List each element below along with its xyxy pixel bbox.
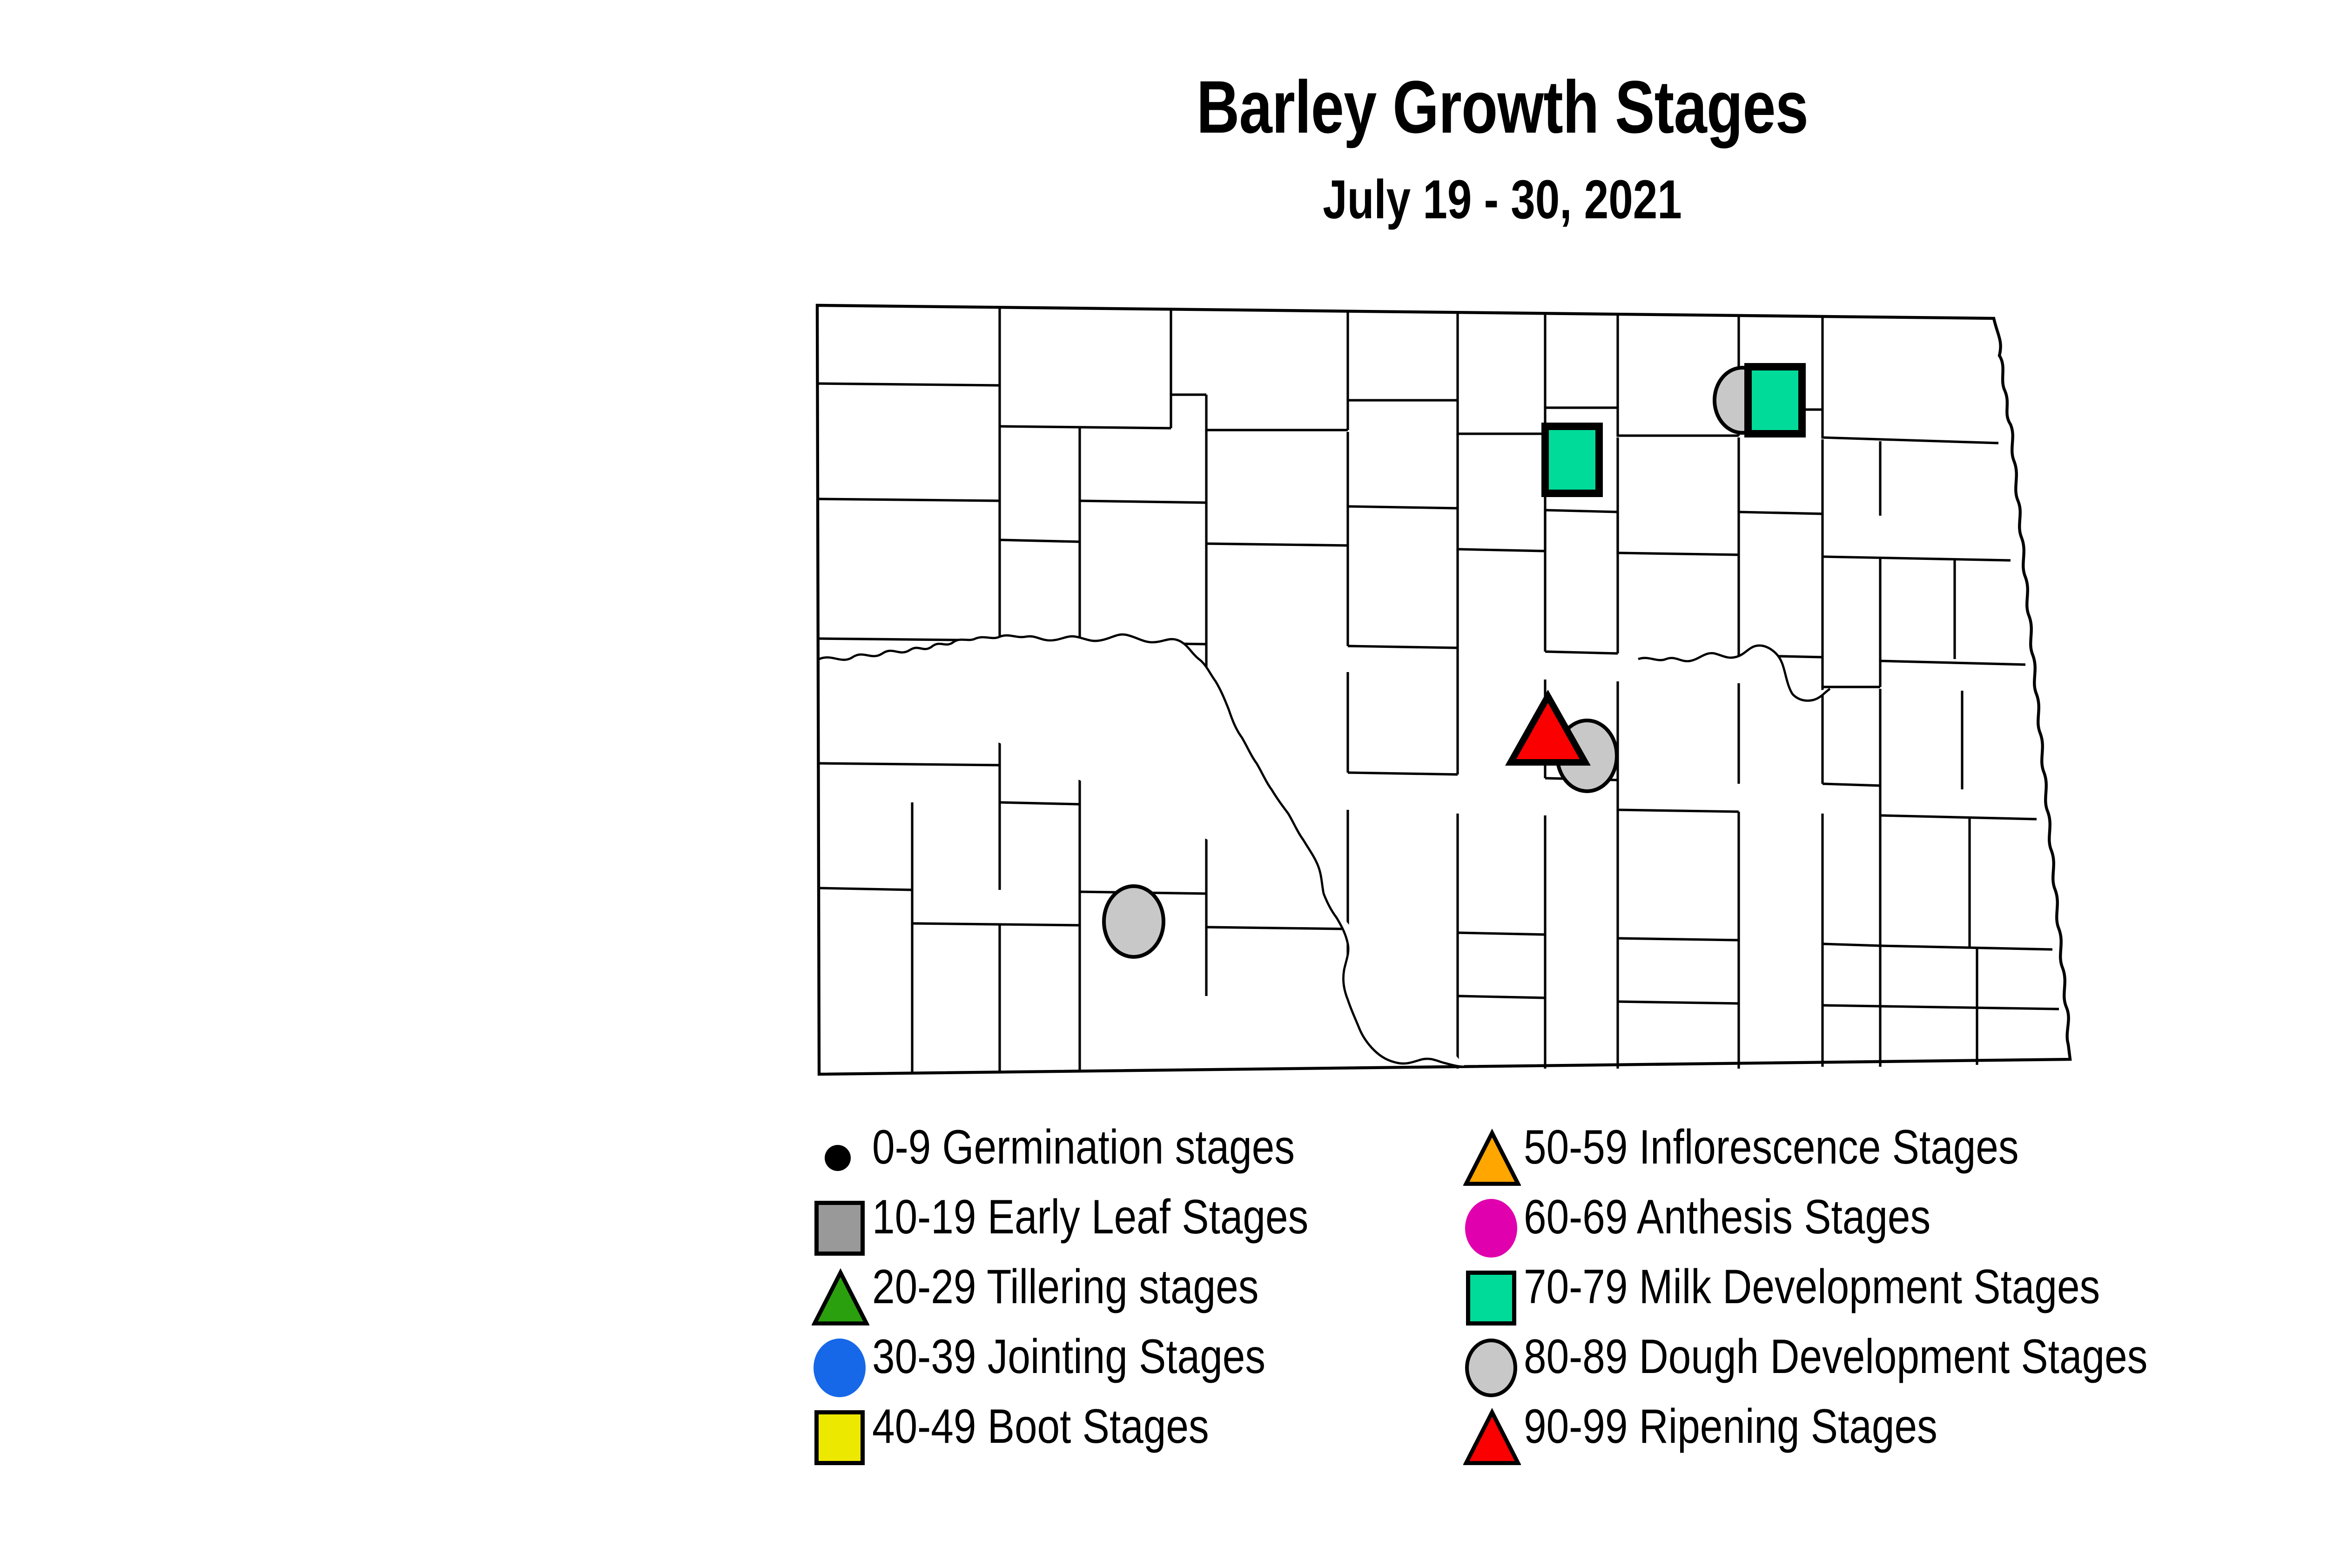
legend-label-germination: 0-9 Germination stages <box>872 1123 1295 1171</box>
legend-label-inflorescence: 50-59 Inflorescence Stages <box>1524 1123 2019 1171</box>
dot-icon <box>825 1145 851 1171</box>
page-subtitle: July 19 - 30, 2021 <box>301 172 2327 227</box>
circle-icon <box>1465 1199 1517 1258</box>
circle-icon <box>1465 1339 1517 1397</box>
legend-item-jointing[interactable]: 30-39 Jointing Stages <box>791 1322 1452 1392</box>
triangle-icon <box>1463 1128 1521 1189</box>
legend-item-dough-development[interactable]: 80-89 Dough Development Stages <box>1443 1322 2327 1392</box>
legend-label-tillering: 20-29 Tillering stages <box>872 1263 1258 1311</box>
legend-swatch-inflorescence <box>1443 1112 1513 1182</box>
legend-item-inflorescence[interactable]: 50-59 Inflorescence Stages <box>1443 1112 2327 1182</box>
legend-item-ripening[interactable]: 90-99 Ripening Stages <box>1443 1392 2327 1461</box>
legend-label-jointing: 30-39 Jointing Stages <box>872 1332 1265 1381</box>
title-block: Barley Growth Stages July 19 - 30, 2021 <box>0 70 2327 227</box>
legend-swatch-anthesis <box>1443 1182 1513 1252</box>
legend-label-ripening: 90-99 Ripening Stages <box>1524 1402 1937 1451</box>
north-dakota-county-map <box>800 270 2159 1089</box>
legend-label-milk-development: 70-79 Milk Development Stages <box>1524 1263 2100 1311</box>
legend-label-boot: 40-49 Boot Stages <box>872 1402 1209 1451</box>
legend-item-anthesis[interactable]: 60-69 Anthesis Stages <box>1443 1182 2327 1252</box>
legend-item-early-leaf[interactable]: 10-19 Early Leaf Stages <box>791 1182 1452 1252</box>
circle-icon <box>814 1339 866 1397</box>
legend: 0-9 Germination stages 10-19 Early Leaf … <box>791 1112 2327 1485</box>
legend-swatch-dough-development <box>1443 1322 1513 1392</box>
legend-swatch-tillering <box>791 1252 861 1322</box>
triangle-icon <box>812 1268 869 1328</box>
legend-column-right: 50-59 Inflorescence Stages 60-69 Anthesi… <box>1443 1112 2327 1461</box>
legend-item-tillering[interactable]: 20-29 Tillering stages <box>791 1252 1452 1322</box>
map-marker-dough-development-3[interactable] <box>1104 886 1163 957</box>
square-icon <box>814 1410 865 1465</box>
legend-swatch-jointing <box>791 1322 861 1392</box>
figure-root: Barley Growth Stages July 19 - 30, 2021 <box>0 0 2327 1568</box>
map-marker-milk-development-2[interactable] <box>1748 367 1802 434</box>
legend-item-boot[interactable]: 40-49 Boot Stages <box>791 1392 1452 1461</box>
legend-item-germination[interactable]: 0-9 Germination stages <box>791 1112 1452 1182</box>
legend-swatch-boot <box>791 1392 861 1461</box>
county-boundaries <box>817 305 2070 1074</box>
square-icon <box>814 1201 865 1256</box>
square-icon <box>1466 1271 1516 1326</box>
legend-item-milk-development[interactable]: 70-79 Milk Development Stages <box>1443 1252 2327 1322</box>
legend-column-left: 0-9 Germination stages 10-19 Early Leaf … <box>791 1112 1452 1461</box>
legend-label-anthesis: 60-69 Anthesis Stages <box>1524 1193 1930 1241</box>
legend-label-dough-development: 80-89 Dough Development Stages <box>1524 1332 2147 1381</box>
triangle-icon <box>1463 1407 1521 1468</box>
legend-swatch-early-leaf <box>791 1182 861 1252</box>
page-title: Barley Growth Stages <box>301 70 2327 144</box>
legend-swatch-germination <box>791 1112 861 1182</box>
map-marker-milk-development-1[interactable] <box>1545 426 1599 493</box>
legend-swatch-milk-development <box>1443 1252 1513 1322</box>
map-container <box>800 270 2159 1089</box>
legend-swatch-ripening <box>1443 1392 1513 1461</box>
legend-label-early-leaf: 10-19 Early Leaf Stages <box>872 1193 1308 1241</box>
